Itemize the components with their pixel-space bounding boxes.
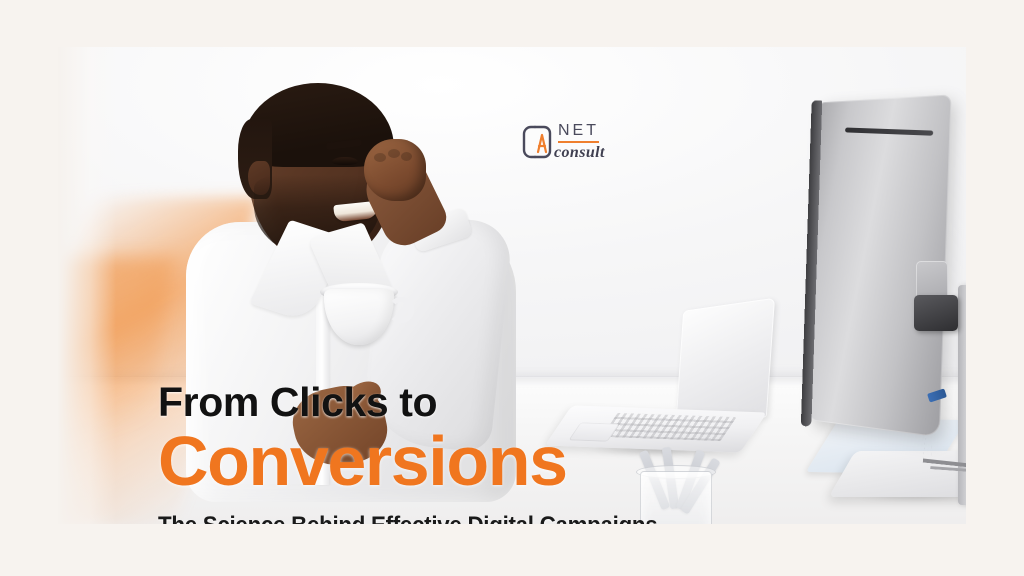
headline-subtitle: The Science Behind Effective Digital Cam…: [158, 512, 753, 524]
coffee-cup-handle: [388, 297, 414, 323]
headline-block: From Clicks to Conversions The Science B…: [158, 380, 798, 524]
person-eye: [332, 157, 358, 165]
brand-logo: NET consult: [522, 115, 626, 169]
marketing-banner: NET consult From Clicks to Conversions T…: [58, 47, 966, 524]
net-consult-logo-mark: [522, 125, 552, 159]
logo-secondary-text: consult: [554, 145, 605, 161]
left-edge-fade: [58, 47, 116, 524]
desktop-monitor: [800, 99, 966, 489]
headline-line-2-accent: Conversions: [158, 426, 798, 496]
knuckle: [374, 153, 386, 162]
screenshot-canvas: NET consult From Clicks to Conversions T…: [0, 0, 1024, 576]
headline-line-1: From Clicks to: [158, 380, 798, 424]
person-hand-fist: [364, 139, 426, 201]
monitor-cable-secondary: [930, 411, 966, 476]
knuckle: [401, 152, 412, 161]
logo-wordmark: NET consult: [558, 123, 605, 161]
knuckle: [388, 149, 400, 158]
monitor-hinge: [914, 295, 958, 331]
logo-primary-text: NET: [558, 123, 599, 143]
